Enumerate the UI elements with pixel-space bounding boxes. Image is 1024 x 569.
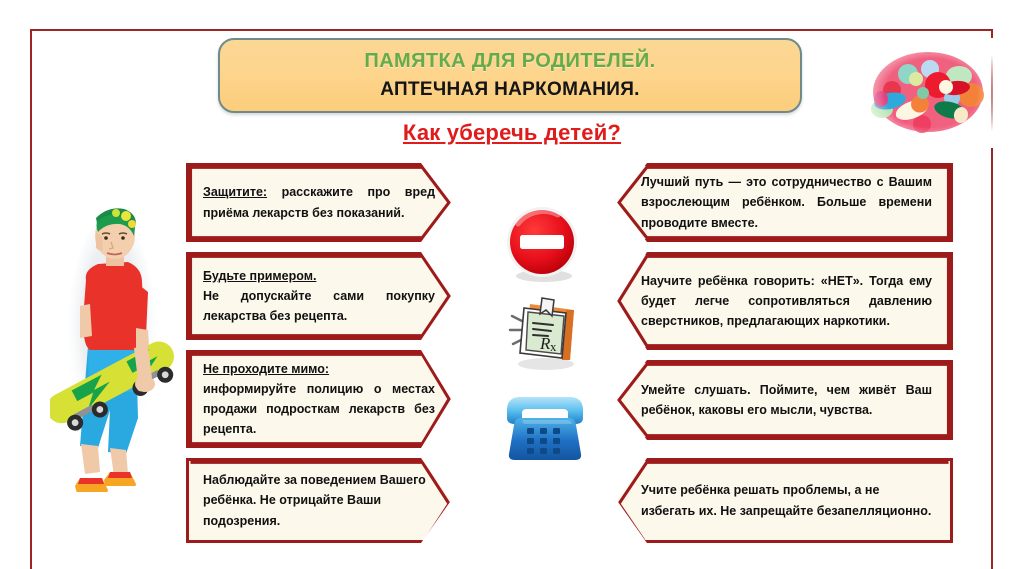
tip-text: Защитите: расскажите про вред приёма лек…: [203, 182, 435, 223]
tip-lead: Не проходите мимо:: [203, 362, 329, 376]
tip-box-left-2: Будьте примером. Не допускайте сами поку…: [186, 252, 451, 340]
tip-box-left-1: Защитите: расскажите про вред приёма лек…: [186, 163, 451, 242]
tip-box-right-1: Лучший путь — это сотрудничество с Вашим…: [617, 163, 953, 242]
tip-body: Учите ребёнка решать проблемы, а не избе…: [641, 480, 932, 521]
tip-body: информируйте полицию о местах продажи по…: [203, 379, 435, 440]
svg-text:x: x: [550, 339, 557, 354]
tip-body: Научите ребёнка говорить: «НЕТ». Тогда е…: [641, 271, 932, 332]
teen-skateboarder-illustration: [50, 196, 175, 506]
tip-body: Не допускайте сами покупку лекарства без…: [203, 286, 435, 327]
tip-body: Наблюдайте за поведением Вашего ребёнка.…: [203, 470, 435, 531]
tip-box-right-2: Научите ребёнка говорить: «НЕТ». Тогда е…: [617, 252, 953, 350]
header-banner: ПАМЯТКА ДЛЯ РОДИТЕЛЕЙ. АПТЕЧНАЯ НАРКОМАН…: [218, 38, 802, 113]
pills-photo: [860, 38, 1008, 148]
banner-title-line2: АПТЕЧНАЯ НАРКОМАНИЯ.: [380, 79, 640, 101]
tip-lead: Будьте примером.: [203, 269, 316, 283]
telephone-icon: [499, 388, 591, 470]
tip-body: Лучший путь — это сотрудничество с Вашим…: [641, 172, 932, 233]
tip-lead: Защитите:: [203, 185, 267, 199]
no-entry-sign-icon: [500, 202, 584, 286]
tip-box-right-4: Учите ребёнка решать проблемы, а не избе…: [617, 458, 953, 543]
tip-box-left-4: Наблюдайте за поведением Вашего ребёнка.…: [186, 458, 451, 543]
tip-body: Умейте слушать. Поймите, чем живёт Ваш р…: [641, 380, 932, 421]
tip-box-right-3: Умейте слушать. Поймите, чем живёт Ваш р…: [617, 360, 953, 440]
tip-box-left-3: Не проходите мимо: информируйте полицию …: [186, 350, 451, 448]
banner-title-line1: ПАМЯТКА ДЛЯ РОДИТЕЛЕЙ.: [364, 50, 655, 73]
poster-page: ПАМЯТКА ДЛЯ РОДИТЕЛЕЙ. АПТЕЧНАЯ НАРКОМАН…: [0, 0, 1024, 543]
center-icon-column: R x: [487, 190, 607, 510]
prescription-pad-icon: R x: [500, 288, 588, 374]
